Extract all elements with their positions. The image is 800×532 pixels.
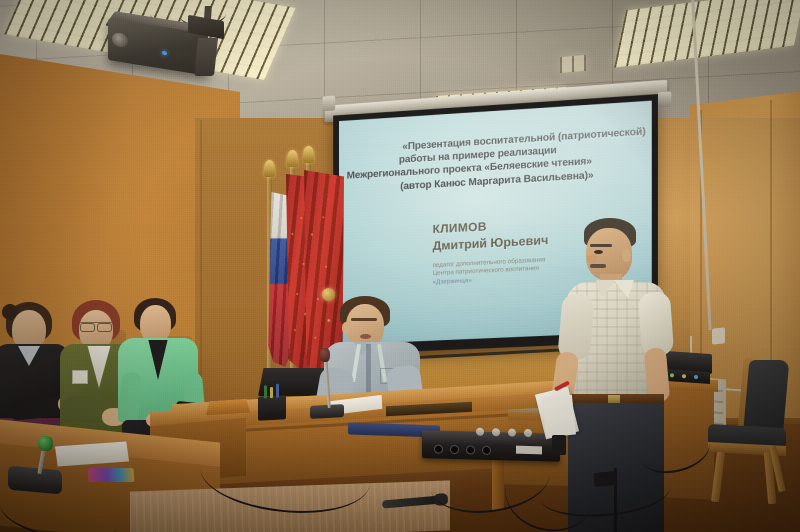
slide-title: «Презентация воспитательной (патриотичес…: [345, 125, 648, 196]
projector-bracket: [194, 38, 218, 76]
colorful-object[interactable]: [88, 468, 135, 482]
slide-speaker-name: КЛИМОВ Дмитрий Юрьевич: [433, 216, 549, 253]
held-papers-second-sheet: [542, 395, 576, 438]
microphone-head-icon[interactable]: [320, 348, 330, 362]
ear: [342, 322, 350, 334]
ceiling-projector[interactable]: [100, 8, 230, 83]
projector-power-led-icon: [162, 51, 167, 56]
name-badge: [72, 370, 88, 384]
eyebrow: [351, 318, 377, 321]
conference-room-photo: «Презентация воспитательной (патриотичес…: [0, 0, 800, 532]
screen-endcap-left: [323, 96, 336, 112]
eyeglasses-icon: [80, 322, 112, 330]
mouth: [360, 334, 371, 339]
ceiling-light-panel-icon: [560, 55, 586, 73]
wooden-block-object[interactable]: [206, 399, 250, 416]
screen-endcap-right: [658, 91, 671, 107]
microphone-head-icon[interactable]: [38, 436, 53, 451]
wall-outlet-icon[interactable]: [712, 327, 725, 344]
nose: [587, 254, 597, 264]
slide-speaker-role: педагог дополнительного образования Цент…: [433, 256, 546, 287]
pens[interactable]: [262, 383, 284, 398]
mustache: [590, 264, 606, 268]
sleeve-left: [557, 293, 595, 362]
flag-finial-icon: [287, 150, 298, 167]
cable-connector-block: [593, 471, 616, 487]
flag-finial-icon: [303, 146, 314, 163]
eyebrow: [590, 244, 612, 247]
cable-connector-block: [552, 435, 566, 455]
flag-finial-icon: [264, 160, 275, 177]
ear: [622, 248, 631, 262]
wooden-chair-dark-seat[interactable]: [710, 360, 794, 500]
pen-holder[interactable]: [258, 395, 286, 420]
chair-leg: [711, 452, 725, 503]
slide-speaker-firstname: Дмитрий Юрьевич: [433, 233, 549, 253]
